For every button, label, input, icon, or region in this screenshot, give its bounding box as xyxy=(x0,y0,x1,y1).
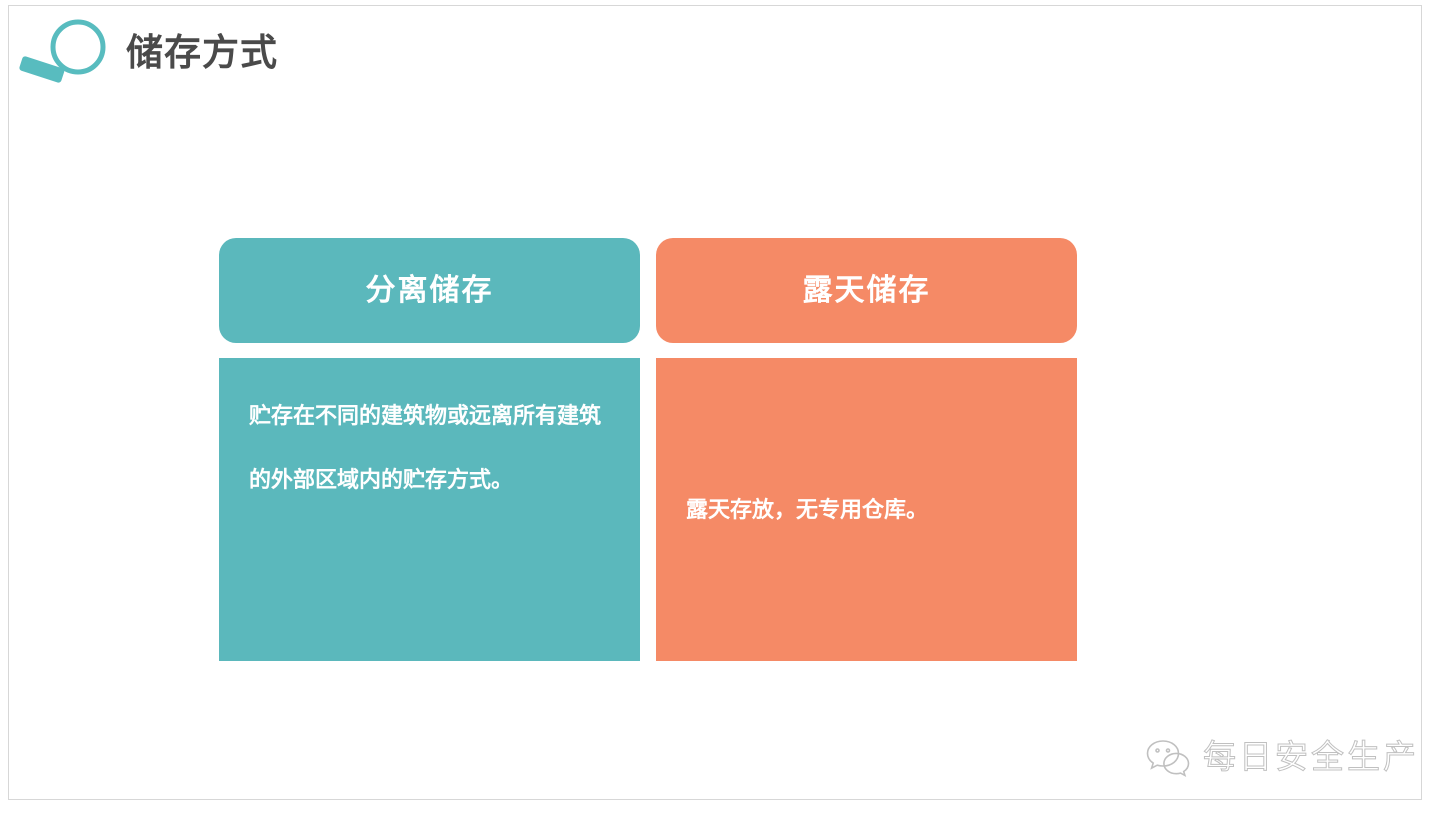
wechat-icon xyxy=(1145,737,1191,779)
slide-canvas: 储存方式 分离储存 贮存在不同的建筑物或远离所有建筑的外部区域内的贮存方式。 露… xyxy=(0,0,1441,814)
watermark-label: 每日安全生产 xyxy=(1203,738,1419,778)
storage-column-separate: 分离储存 贮存在不同的建筑物或远离所有建筑的外部区域内的贮存方式。 xyxy=(219,238,640,661)
storage-column-open-air: 露天储存 露天存放，无专用仓库。 xyxy=(656,238,1077,661)
card-body-open-air-storage: 露天存放，无专用仓库。 xyxy=(656,358,1077,661)
card-body-text: 露天存放，无专用仓库。 xyxy=(686,478,1047,542)
magnifier-icon xyxy=(14,18,116,88)
watermark: 每日安全生产 xyxy=(1145,737,1419,779)
card-header-open-air-storage[interactable]: 露天储存 xyxy=(656,238,1077,343)
page-title: 储存方式 xyxy=(126,29,278,77)
card-header-label: 露天储存 xyxy=(803,273,931,309)
slide-header: 储存方式 xyxy=(0,0,1441,110)
storage-type-columns: 分离储存 贮存在不同的建筑物或远离所有建筑的外部区域内的贮存方式。 露天储存 露… xyxy=(219,238,1077,661)
card-body-text: 贮存在不同的建筑物或远离所有建筑的外部区域内的贮存方式。 xyxy=(249,384,610,512)
card-body-separate-storage: 贮存在不同的建筑物或远离所有建筑的外部区域内的贮存方式。 xyxy=(219,358,640,661)
card-header-separate-storage[interactable]: 分离储存 xyxy=(219,238,640,343)
card-header-label: 分离储存 xyxy=(366,273,494,309)
